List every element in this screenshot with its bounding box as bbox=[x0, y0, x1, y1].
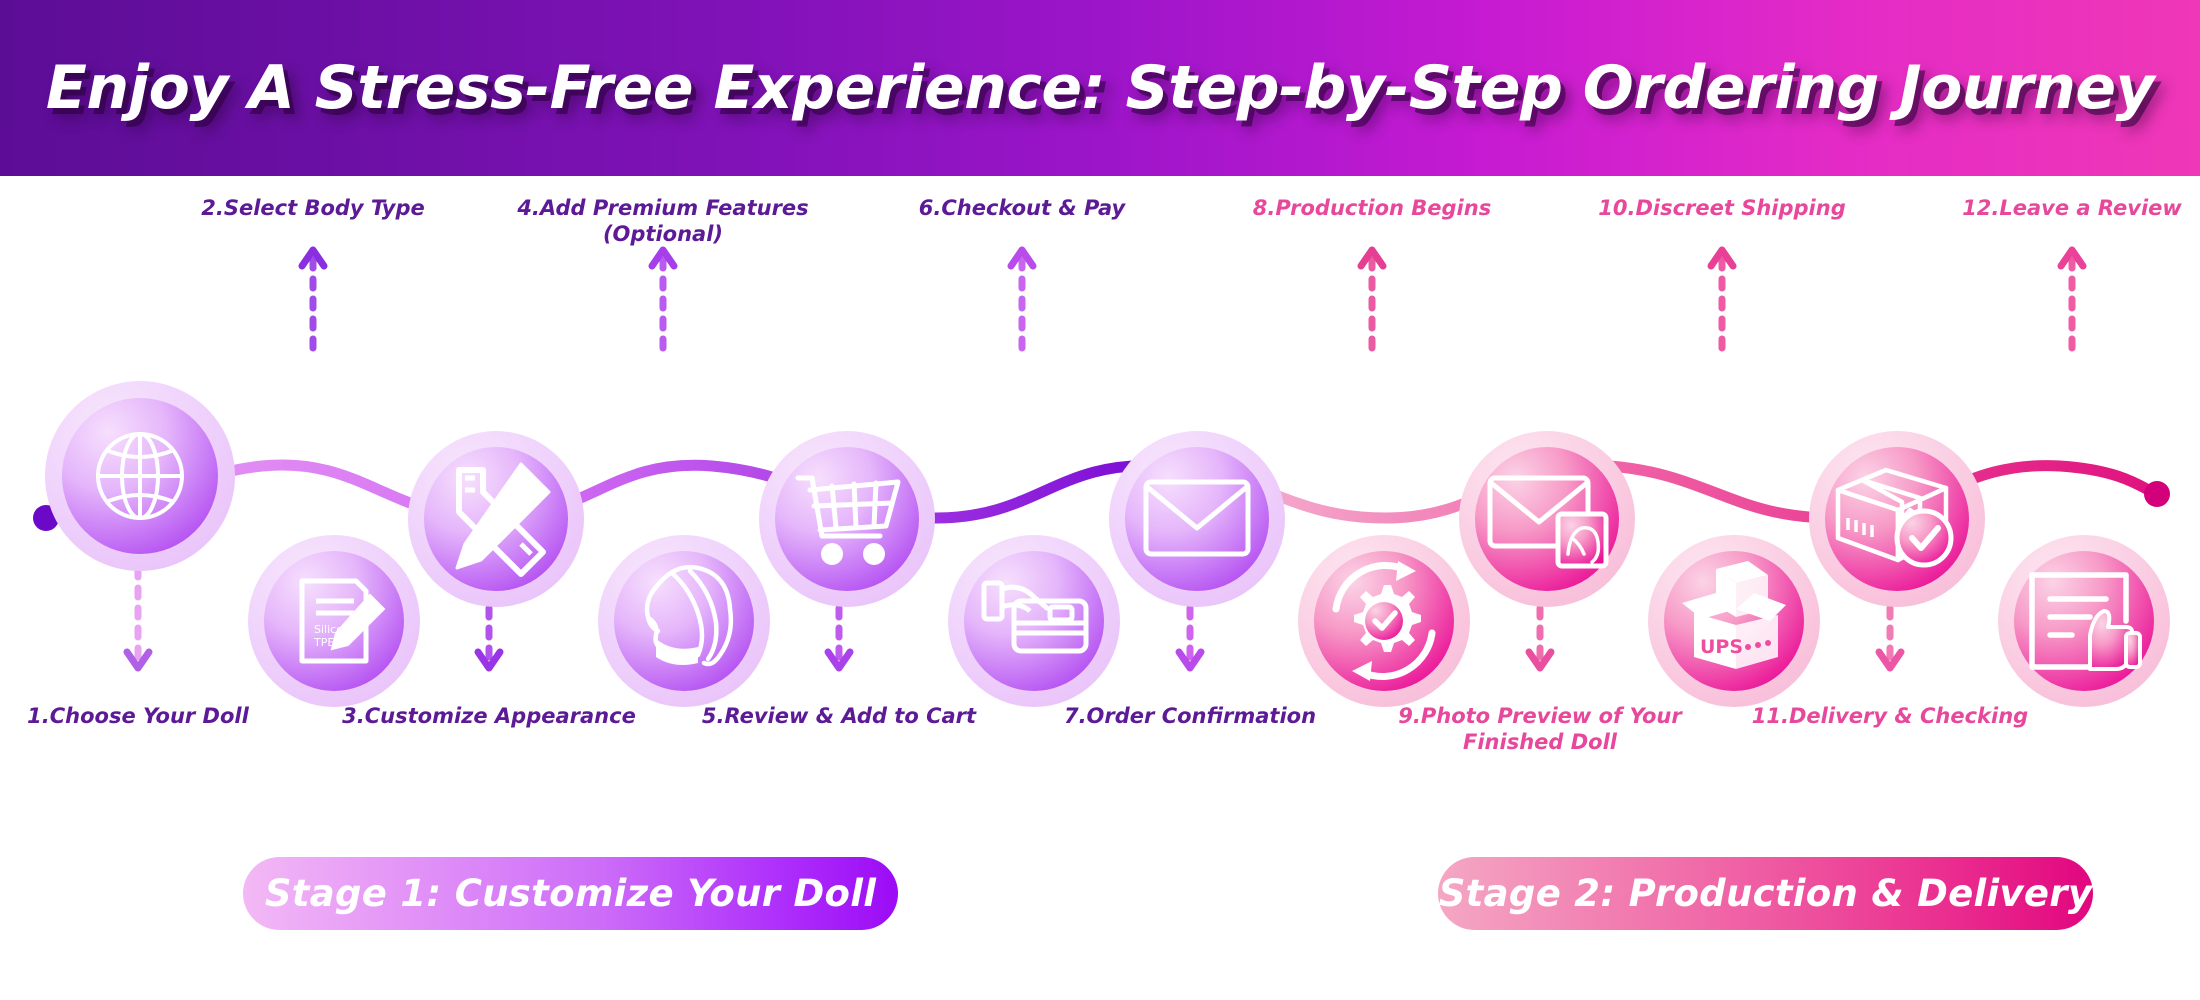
node-4-woman-hair-icon[interactable] bbox=[594, 531, 774, 711]
stage-1-label: Stage 1: Customize Your Doll bbox=[265, 872, 876, 915]
journey-canvas: Silicone TPE bbox=[0, 176, 2200, 1000]
node-12-review-thumbsup-icon[interactable] bbox=[1994, 531, 2174, 711]
step-label-12: 12.Leave a Review bbox=[1922, 196, 2200, 222]
box-carrier-label: UPS bbox=[1700, 636, 1743, 658]
step-label-2: 2.Select Body Type bbox=[163, 196, 463, 222]
step-label-3: 3.Customize Appearance bbox=[339, 704, 639, 730]
node-7-envelope-icon[interactable] bbox=[1104, 426, 1290, 612]
header-banner: Enjoy A Stress-Free Experience: Step-by-… bbox=[0, 0, 2200, 176]
step-label-5: 5.Review & Add to Cart bbox=[689, 704, 989, 730]
step-label-8: 8.Production Begins bbox=[1222, 196, 1522, 222]
step-label-4: 4.Add Premium Features (Optional) bbox=[513, 196, 813, 247]
node-11-package-check-icon[interactable] bbox=[1804, 426, 1990, 612]
stage-1-badge[interactable]: Stage 1: Customize Your Doll bbox=[243, 857, 898, 930]
node-8-gear-check-cycle-icon[interactable] bbox=[1294, 531, 1474, 711]
stage-2-label: Stage 2: Production & Delivery bbox=[1439, 872, 2093, 915]
node-10-open-box-ups-icon[interactable]: UPS bbox=[1644, 531, 1824, 711]
infographic-root: Enjoy A Stress-Free Experience: Step-by-… bbox=[0, 0, 2200, 1000]
step-label-10: 10.Discreet Shipping bbox=[1572, 196, 1872, 222]
step-label-1: 1.Choose Your Doll bbox=[0, 704, 288, 730]
step-label-7: 7.Order Confirmation bbox=[1040, 704, 1340, 730]
node-9-envelope-photo-icon[interactable] bbox=[1454, 426, 1640, 612]
step-label-11: 11.Delivery & Checking bbox=[1740, 704, 2040, 730]
node-1-globe-icon[interactable] bbox=[40, 376, 240, 576]
step-label-9: 9.Photo Preview of Your Finished Doll bbox=[1390, 704, 1690, 755]
stage-2-badge[interactable]: Stage 2: Production & Delivery bbox=[1438, 857, 2093, 930]
node-3-pencil-ruler-icon[interactable] bbox=[403, 426, 589, 612]
node-5-shopping-cart-icon[interactable] bbox=[754, 426, 940, 612]
doc-material-line2: TPE bbox=[313, 636, 334, 649]
node-6-hand-credit-card-icon[interactable] bbox=[944, 531, 1124, 711]
page-title: Enjoy A Stress-Free Experience: Step-by-… bbox=[46, 53, 2154, 123]
step-label-6: 6.Checkout & Pay bbox=[872, 196, 1172, 222]
node-2-document-pencil-icon[interactable]: Silicone TPE bbox=[244, 531, 424, 711]
